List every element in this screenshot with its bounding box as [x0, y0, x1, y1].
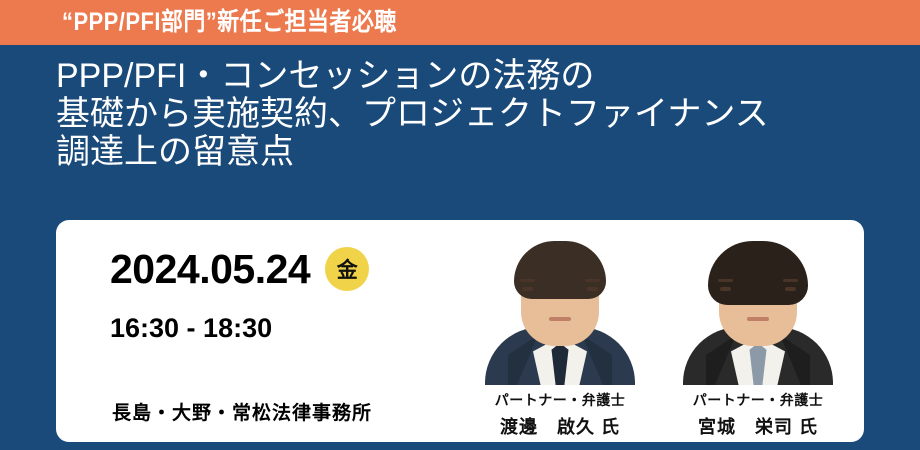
- speaker-name: 渡邊 啟久 氏: [500, 413, 620, 439]
- top-banner: “PPP/PFI部門”新任ご担当者必聴: [0, 0, 920, 45]
- day-of-week-badge: 金: [325, 247, 369, 291]
- speaker-role: パートナー・弁護士: [495, 390, 626, 410]
- banner-text: “PPP/PFI部門”新任ご担当者必聴: [62, 7, 397, 37]
- law-firm-name: 長島・大野・常松法律事務所: [112, 398, 372, 425]
- date-row: 2024.05.24 金: [110, 247, 369, 291]
- event-date: 2024.05.24: [110, 247, 310, 291]
- speaker-name: 宮城 栄司 氏: [698, 413, 818, 439]
- speakers-list: パートナー・弁護士 渡邊 啟久 氏 パ: [476, 225, 856, 440]
- event-time: 16:30 - 18:30: [110, 313, 272, 344]
- speaker-card: パートナー・弁護士 宮城 栄司 氏: [674, 225, 842, 440]
- speaker-photo: [476, 225, 644, 385]
- speaker-role: パートナー・弁護士: [693, 390, 824, 410]
- speaker-photo: [674, 225, 842, 385]
- detail-card: 2024.05.24 金 16:30 - 18:30 長島・大野・常松法律事務所: [56, 220, 864, 442]
- page-title: PPP/PFI・コンセッションの法務の 基礎から実施契約、プロジェクトファイナン…: [56, 57, 886, 171]
- speaker-card: パートナー・弁護士 渡邊 啟久 氏: [476, 225, 644, 440]
- seminar-poster: “PPP/PFI部門”新任ご担当者必聴 PPP/PFI・コンセッションの法務の …: [0, 0, 920, 450]
